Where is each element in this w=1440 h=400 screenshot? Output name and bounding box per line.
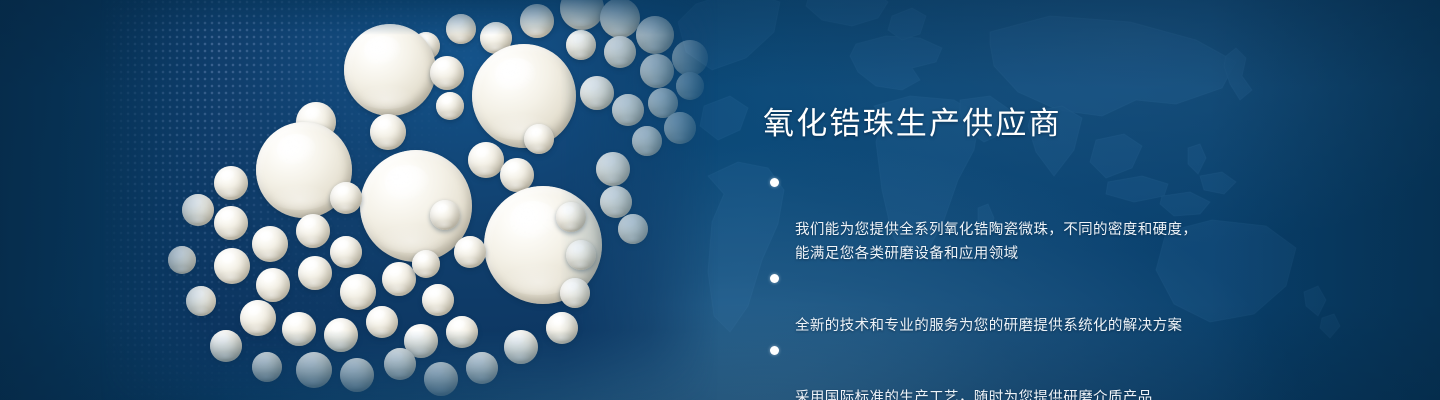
bead: [282, 312, 316, 346]
bead: [430, 56, 464, 90]
bead: [580, 76, 614, 110]
bead: [182, 194, 214, 226]
bead: [330, 182, 362, 214]
bead: [240, 300, 276, 336]
bead: [252, 226, 288, 262]
banner-text-column: 氧化锆珠生产供应商 我们能为您提供全系列氧化锆陶瓷微珠，不同的密度和硬度， 能满…: [763, 0, 1323, 400]
bead: [370, 114, 406, 150]
list-item: 采用国际标准的生产工艺，随时为您提供研磨介质产品: [765, 338, 1197, 400]
bead: [566, 30, 596, 60]
bead: [556, 202, 586, 232]
bead: [446, 316, 478, 348]
bead: [632, 126, 662, 156]
bead: [560, 278, 590, 308]
product-photo-zirconia-beads: [0, 0, 720, 400]
bead: [640, 54, 674, 88]
bead: [472, 44, 576, 148]
bead: [210, 330, 242, 362]
bead: [330, 236, 362, 268]
bead: [636, 16, 674, 54]
list-item-label: 采用国际标准的生产工艺，随时为您提供研磨介质产品: [795, 390, 1153, 400]
bead: [382, 262, 416, 296]
bead: [672, 40, 708, 76]
bead: [600, 186, 632, 218]
bead: [168, 246, 196, 274]
bead: [424, 362, 458, 396]
bead: [340, 274, 376, 310]
bead: [344, 24, 436, 116]
bead: [468, 142, 504, 178]
bullet-dot-icon: [770, 274, 779, 283]
bead: [422, 284, 454, 316]
bead: [676, 72, 704, 100]
feature-list: 我们能为您提供全系列氧化锆陶瓷微珠，不同的密度和硬度， 能满足您各类研磨设备和应…: [765, 170, 1197, 400]
bead: [436, 92, 464, 120]
bead: [186, 286, 216, 316]
bead: [524, 124, 554, 154]
hero-banner: 氧化锆珠生产供应商 我们能为您提供全系列氧化锆陶瓷微珠，不同的密度和硬度， 能满…: [0, 0, 1440, 400]
bead: [214, 206, 248, 240]
list-item: 全新的技术和专业的服务为您的研磨提供系统化的解决方案: [765, 266, 1197, 338]
bullet-dot-icon: [770, 346, 779, 355]
bead: [446, 14, 476, 44]
bead: [504, 330, 538, 364]
bead: [664, 112, 696, 144]
bead: [546, 312, 578, 344]
bullet-dot-icon: [770, 178, 779, 187]
bead: [430, 200, 460, 230]
page-title: 氧化锆珠生产供应商: [763, 108, 1062, 139]
bead: [340, 358, 374, 392]
bead: [296, 214, 330, 248]
bead: [596, 152, 630, 186]
bead: [366, 306, 398, 338]
bead: [412, 250, 440, 278]
bead: [566, 240, 596, 270]
bead: [612, 94, 644, 126]
list-item-label: 我们能为您提供全系列氧化锆陶瓷微珠，不同的密度和硬度， 能满足您各类研磨设备和应…: [795, 222, 1197, 262]
bead: [298, 256, 332, 290]
bead: [324, 318, 358, 352]
bead: [252, 352, 282, 382]
bead: [520, 4, 554, 38]
bead: [384, 348, 416, 380]
list-item: 我们能为您提供全系列氧化锆陶瓷微珠，不同的密度和硬度， 能满足您各类研磨设备和应…: [765, 170, 1197, 266]
bead: [214, 248, 250, 284]
bead: [604, 36, 636, 68]
list-item-label: 全新的技术和专业的服务为您的研磨提供系统化的解决方案: [795, 318, 1182, 334]
bead: [454, 236, 486, 268]
bead: [214, 166, 248, 200]
bead: [618, 214, 648, 244]
bead: [256, 268, 290, 302]
bead: [296, 352, 332, 388]
bead: [466, 352, 498, 384]
